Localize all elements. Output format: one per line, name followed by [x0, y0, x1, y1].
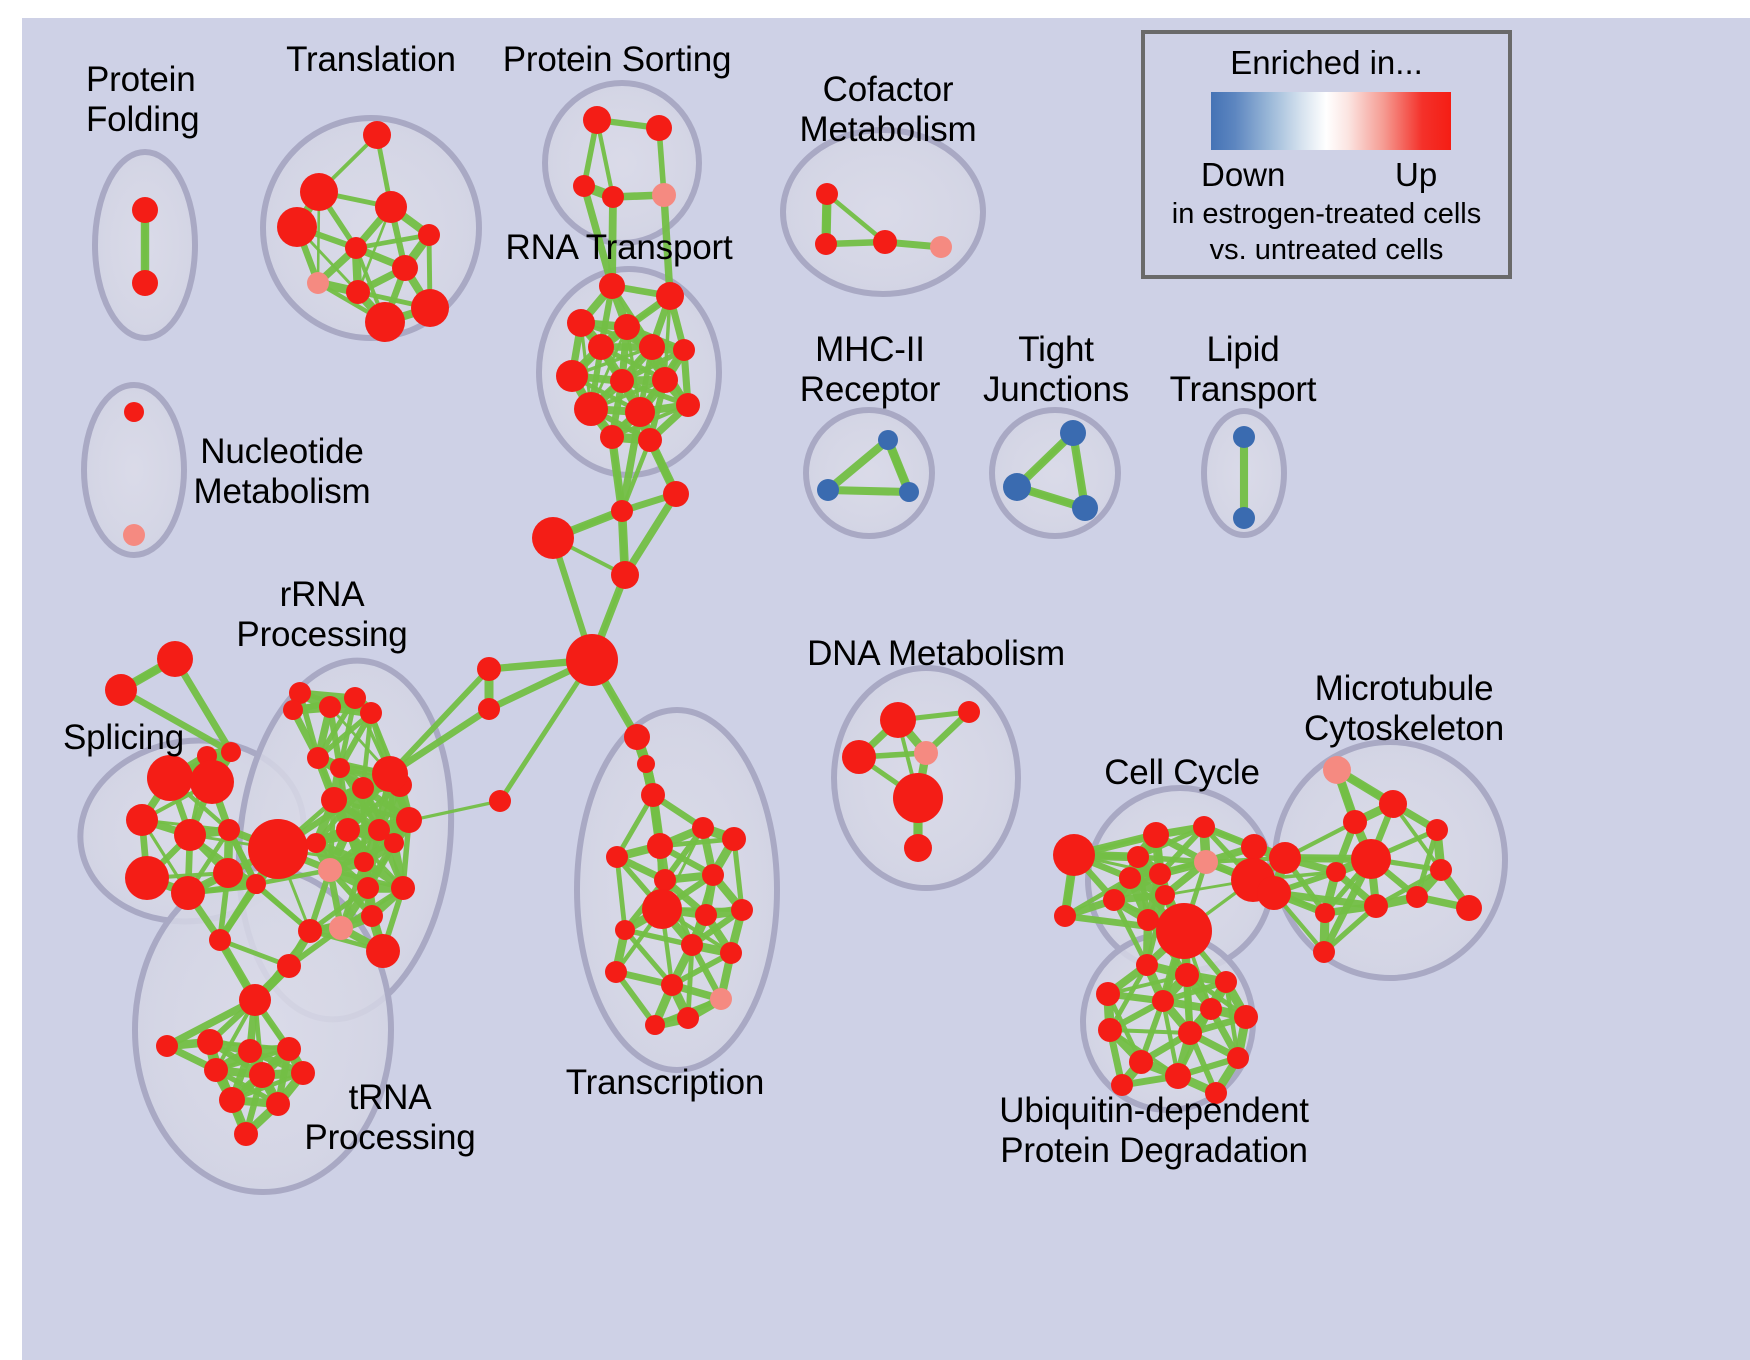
network-node[interactable]	[1426, 819, 1448, 841]
cluster-label-line: Nucleotide	[194, 432, 371, 472]
network-node[interactable]	[336, 818, 360, 842]
network-node[interactable]	[614, 314, 640, 340]
network-node[interactable]	[1053, 834, 1095, 876]
network-node[interactable]	[574, 392, 608, 426]
network-node[interactable]	[556, 360, 588, 392]
network-node[interactable]	[567, 309, 595, 337]
network-node[interactable]	[298, 919, 322, 943]
network-node[interactable]	[1060, 420, 1086, 446]
network-node[interactable]	[239, 984, 271, 1016]
network-node[interactable]	[277, 1037, 301, 1061]
network-node[interactable]	[360, 702, 382, 724]
network-node[interactable]	[365, 302, 405, 342]
network-node[interactable]	[602, 186, 624, 208]
network-node[interactable]	[610, 369, 634, 393]
network-node[interactable]	[1406, 886, 1428, 908]
cluster-label-line: Cell Cycle	[1104, 753, 1260, 793]
network-node[interactable]	[1215, 971, 1237, 993]
network-node[interactable]	[352, 777, 374, 799]
enrichment-map-figure: ProteinFoldingTranslationProtein Sorting…	[0, 0, 1750, 1360]
network-node[interactable]	[1200, 998, 1222, 1020]
cluster-label-line: Tight	[983, 330, 1129, 370]
network-node[interactable]	[234, 1122, 258, 1146]
network-node[interactable]	[126, 804, 158, 836]
cluster-label-line: tRNA	[304, 1078, 475, 1118]
network-node[interactable]	[904, 834, 932, 862]
network-node[interactable]	[710, 988, 732, 1010]
cluster-label-line: Metabolism	[194, 472, 371, 512]
cluster-label-line: MHC-II	[800, 330, 940, 370]
network-node[interactable]	[1072, 495, 1098, 521]
network-node[interactable]	[478, 698, 500, 720]
network-node[interactable]	[1156, 903, 1212, 959]
network-node[interactable]	[132, 197, 158, 223]
network-node[interactable]	[532, 517, 574, 559]
network-node[interactable]	[1269, 842, 1301, 874]
network-node[interactable]	[306, 833, 326, 853]
legend-subtitle-line-1: in estrogen-treated cells	[1145, 198, 1508, 231]
legend-color-bar	[1211, 92, 1451, 150]
cluster-label-nucleotide-metabolism: NucleotideMetabolism	[194, 432, 371, 512]
cofactor-metabolism-hull	[783, 130, 983, 294]
network-node[interactable]	[1193, 816, 1215, 838]
network-node[interactable]	[204, 1058, 228, 1082]
network-node[interactable]	[638, 428, 662, 452]
network-node[interactable]	[246, 874, 266, 894]
network-node[interactable]	[418, 224, 440, 246]
cluster-label-trna-processing: tRNAProcessing	[304, 1078, 475, 1158]
cluster-label-lipid-transport: LipidTransport	[1170, 330, 1317, 410]
network-node[interactable]	[105, 674, 137, 706]
network-node[interactable]	[1430, 859, 1452, 881]
cluster-label-transcription: Transcription	[566, 1063, 764, 1103]
network-node[interactable]	[720, 942, 742, 964]
network-node[interactable]	[197, 1029, 223, 1055]
network-node[interactable]	[661, 974, 683, 996]
network-node[interactable]	[396, 807, 422, 833]
network-node[interactable]	[411, 289, 449, 327]
cluster-label-line: Transcription	[566, 1063, 764, 1103]
network-node[interactable]	[123, 524, 145, 546]
network-node[interactable]	[722, 827, 746, 851]
network-node[interactable]	[873, 230, 897, 254]
network-node[interactable]	[692, 817, 714, 839]
network-node[interactable]	[625, 397, 655, 427]
network-node[interactable]	[599, 273, 625, 299]
network-node[interactable]	[652, 367, 678, 393]
network-node[interactable]	[489, 790, 511, 812]
cluster-label-line: Translation	[286, 40, 456, 80]
cluster-label-line: DNA Metabolism	[807, 634, 1065, 674]
network-node[interactable]	[677, 1007, 699, 1029]
network-node[interactable]	[1178, 1021, 1202, 1045]
network-node[interactable]	[329, 916, 353, 940]
network-node[interactable]	[639, 334, 665, 360]
network-node[interactable]	[1096, 982, 1120, 1006]
network-node[interactable]	[1098, 1018, 1122, 1042]
network-node[interactable]	[654, 869, 676, 891]
network-node[interactable]	[392, 255, 418, 281]
network-node[interactable]	[893, 773, 943, 823]
network-node[interactable]	[637, 755, 655, 773]
network-node[interactable]	[363, 121, 391, 149]
network-node[interactable]	[330, 758, 350, 778]
cluster-label-rna-transport: RNA Transport	[506, 228, 733, 268]
network-node[interactable]	[615, 920, 635, 940]
network-node[interactable]	[319, 696, 341, 718]
network-node[interactable]	[391, 876, 415, 900]
network-node[interactable]	[663, 481, 689, 507]
network-node[interactable]	[171, 876, 205, 910]
network-node[interactable]	[1456, 895, 1482, 921]
network-node[interactable]	[1136, 954, 1158, 976]
cluster-label-tight-junctions: TightJunctions	[983, 330, 1129, 410]
network-node[interactable]	[702, 864, 724, 886]
network-node[interactable]	[132, 270, 158, 296]
network-node[interactable]	[1194, 850, 1218, 874]
network-node[interactable]	[238, 1039, 262, 1063]
network-node[interactable]	[283, 700, 303, 720]
network-node[interactable]	[266, 1092, 290, 1116]
network-node[interactable]	[1326, 862, 1346, 882]
network-node[interactable]	[1143, 822, 1169, 848]
cluster-label-line: Transport	[1170, 370, 1317, 410]
network-node[interactable]	[958, 701, 980, 723]
network-node[interactable]	[817, 479, 839, 501]
network-node[interactable]	[361, 905, 383, 927]
cluster-label-protein-folding: ProteinFolding	[86, 60, 199, 140]
network-node[interactable]	[1257, 876, 1291, 910]
cluster-label-translation: Translation	[286, 40, 456, 80]
network-node[interactable]	[372, 756, 408, 792]
network-node[interactable]	[190, 760, 234, 804]
network-node[interactable]	[307, 747, 329, 769]
network-edge	[828, 490, 909, 492]
network-node[interactable]	[1343, 810, 1367, 834]
cluster-label-line: Processing	[236, 615, 407, 655]
legend-subtitle-line-2: vs. untreated cells	[1145, 234, 1508, 267]
network-node[interactable]	[345, 237, 367, 259]
network-node[interactable]	[477, 657, 501, 681]
network-node[interactable]	[731, 899, 753, 921]
network-node[interactable]	[645, 1015, 665, 1035]
network-node[interactable]	[1233, 507, 1255, 529]
mhc-ii-hull	[806, 410, 932, 536]
network-node[interactable]	[624, 724, 650, 750]
cluster-label-cofactor-metabolism: CofactorMetabolism	[800, 70, 977, 150]
network-node[interactable]	[816, 183, 838, 205]
cluster-label-line: rRNA	[236, 575, 407, 615]
cluster-label-line: Cofactor	[800, 70, 977, 110]
cluster-label-cell-cycle: Cell Cycle	[1104, 753, 1260, 793]
cluster-label-rrna-processing: rRNAProcessing	[236, 575, 407, 655]
cluster-label-mhc-ii-receptor: MHC-IIReceptor	[800, 330, 940, 410]
network-node[interactable]	[600, 425, 624, 449]
network-node[interactable]	[221, 742, 241, 762]
network-node[interactable]	[277, 954, 301, 978]
network-node[interactable]	[878, 430, 898, 450]
network-node[interactable]	[1129, 1050, 1153, 1074]
cluster-label-line: Cytoskeleton	[1304, 709, 1504, 749]
network-node[interactable]	[366, 934, 400, 968]
network-node[interactable]	[344, 687, 366, 709]
network-node[interactable]	[899, 482, 919, 502]
network-node[interactable]	[1233, 426, 1255, 448]
legend-box: Enriched in... Down Up in estrogen-treat…	[1141, 30, 1512, 279]
tight-junctions-hull	[992, 410, 1118, 536]
network-node[interactable]	[1313, 941, 1335, 963]
network-node[interactable]	[209, 929, 231, 951]
network-node[interactable]	[346, 280, 370, 304]
network-node[interactable]	[914, 741, 938, 765]
network-node[interactable]	[930, 236, 952, 258]
network-node[interactable]	[307, 272, 329, 294]
network-node[interactable]	[588, 334, 614, 360]
network-node[interactable]	[219, 1087, 245, 1113]
cluster-label-line: Protein Degradation	[999, 1131, 1309, 1171]
network-node[interactable]	[1364, 894, 1388, 918]
cluster-label-splicing: Splicing	[63, 718, 184, 758]
network-node[interactable]	[124, 402, 144, 422]
network-node[interactable]	[880, 702, 916, 738]
network-node[interactable]	[249, 1062, 275, 1088]
cluster-label-line: Protein Sorting	[503, 40, 732, 80]
cluster-label-line: Microtubule	[1304, 669, 1504, 709]
network-node[interactable]	[646, 115, 672, 141]
network-node[interactable]	[673, 339, 695, 361]
network-node[interactable]	[1351, 839, 1391, 879]
cluster-label-line: Receptor	[800, 370, 940, 410]
network-node[interactable]	[147, 755, 193, 801]
network-node[interactable]	[157, 641, 193, 677]
protein-sorting-hull	[545, 83, 699, 243]
network-node[interactable]	[1241, 834, 1267, 860]
network-node[interactable]	[1054, 905, 1076, 927]
cluster-label-protein-sorting: Protein Sorting	[503, 40, 732, 80]
network-node[interactable]	[1152, 990, 1174, 1012]
network-node[interactable]	[566, 634, 618, 686]
network-node[interactable]	[218, 819, 240, 841]
network-node[interactable]	[375, 191, 407, 223]
network-node[interactable]	[573, 175, 595, 197]
network-node[interactable]	[1119, 867, 1141, 889]
cluster-label-line: Junctions	[983, 370, 1129, 410]
network-node[interactable]	[611, 561, 639, 589]
network-node[interactable]	[647, 833, 673, 859]
cluster-label-ubiquitin-protein-degradation: Ubiquitin-dependentProtein Degradation	[999, 1091, 1309, 1171]
cluster-label-line: Splicing	[63, 718, 184, 758]
network-node[interactable]	[384, 833, 404, 853]
network-node[interactable]	[357, 877, 379, 899]
network-node[interactable]	[1165, 1063, 1191, 1089]
cluster-label-line: Ubiquitin-dependent	[999, 1091, 1309, 1131]
network-node[interactable]	[642, 889, 682, 929]
network-node[interactable]	[842, 740, 876, 774]
network-node[interactable]	[641, 783, 665, 807]
network-node[interactable]	[321, 787, 347, 813]
network-node[interactable]	[606, 846, 628, 868]
network-node[interactable]	[681, 934, 703, 956]
cluster-label-dna-metabolism: DNA Metabolism	[807, 634, 1065, 674]
network-node[interactable]	[1315, 903, 1335, 923]
cluster-label-line: Metabolism	[800, 110, 977, 150]
network-node[interactable]	[277, 207, 317, 247]
network-node[interactable]	[583, 106, 611, 134]
network-node[interactable]	[318, 858, 342, 882]
network-node[interactable]	[1227, 1047, 1249, 1069]
cluster-label-line: RNA Transport	[506, 228, 733, 268]
network-node[interactable]	[1127, 846, 1149, 868]
network-node[interactable]	[1155, 885, 1175, 905]
network-node[interactable]	[1149, 863, 1171, 885]
network-node[interactable]	[1137, 909, 1159, 931]
network-node[interactable]	[213, 858, 243, 888]
network-node[interactable]	[300, 173, 338, 211]
network-node[interactable]	[354, 852, 374, 872]
network-node[interactable]	[676, 393, 700, 417]
network-node[interactable]	[1323, 756, 1351, 784]
network-node[interactable]	[248, 819, 308, 879]
legend-down-label: Down	[1201, 156, 1285, 194]
network-node[interactable]	[1175, 963, 1199, 987]
cluster-label-line: Processing	[304, 1118, 475, 1158]
network-node[interactable]	[1379, 790, 1407, 818]
network-node[interactable]	[1234, 1005, 1258, 1029]
network-node[interactable]	[611, 500, 633, 522]
network-node[interactable]	[652, 183, 676, 207]
network-node[interactable]	[815, 233, 837, 255]
network-node[interactable]	[1003, 473, 1031, 501]
cluster-label-line: Folding	[86, 100, 199, 140]
cluster-label-line: Lipid	[1170, 330, 1317, 370]
network-node[interactable]	[125, 856, 169, 900]
legend-up-label: Up	[1395, 156, 1437, 194]
network-node[interactable]	[174, 819, 206, 851]
network-node[interactable]	[156, 1035, 178, 1057]
legend-title: Enriched in...	[1145, 44, 1508, 82]
network-node[interactable]	[656, 282, 684, 310]
network-node[interactable]	[695, 904, 717, 926]
cluster-label-microtubule-cytoskeleton: MicrotubuleCytoskeleton	[1304, 669, 1504, 749]
network-node[interactable]	[1103, 889, 1125, 911]
cluster-label-line: Protein	[86, 60, 199, 100]
network-node[interactable]	[605, 961, 627, 983]
